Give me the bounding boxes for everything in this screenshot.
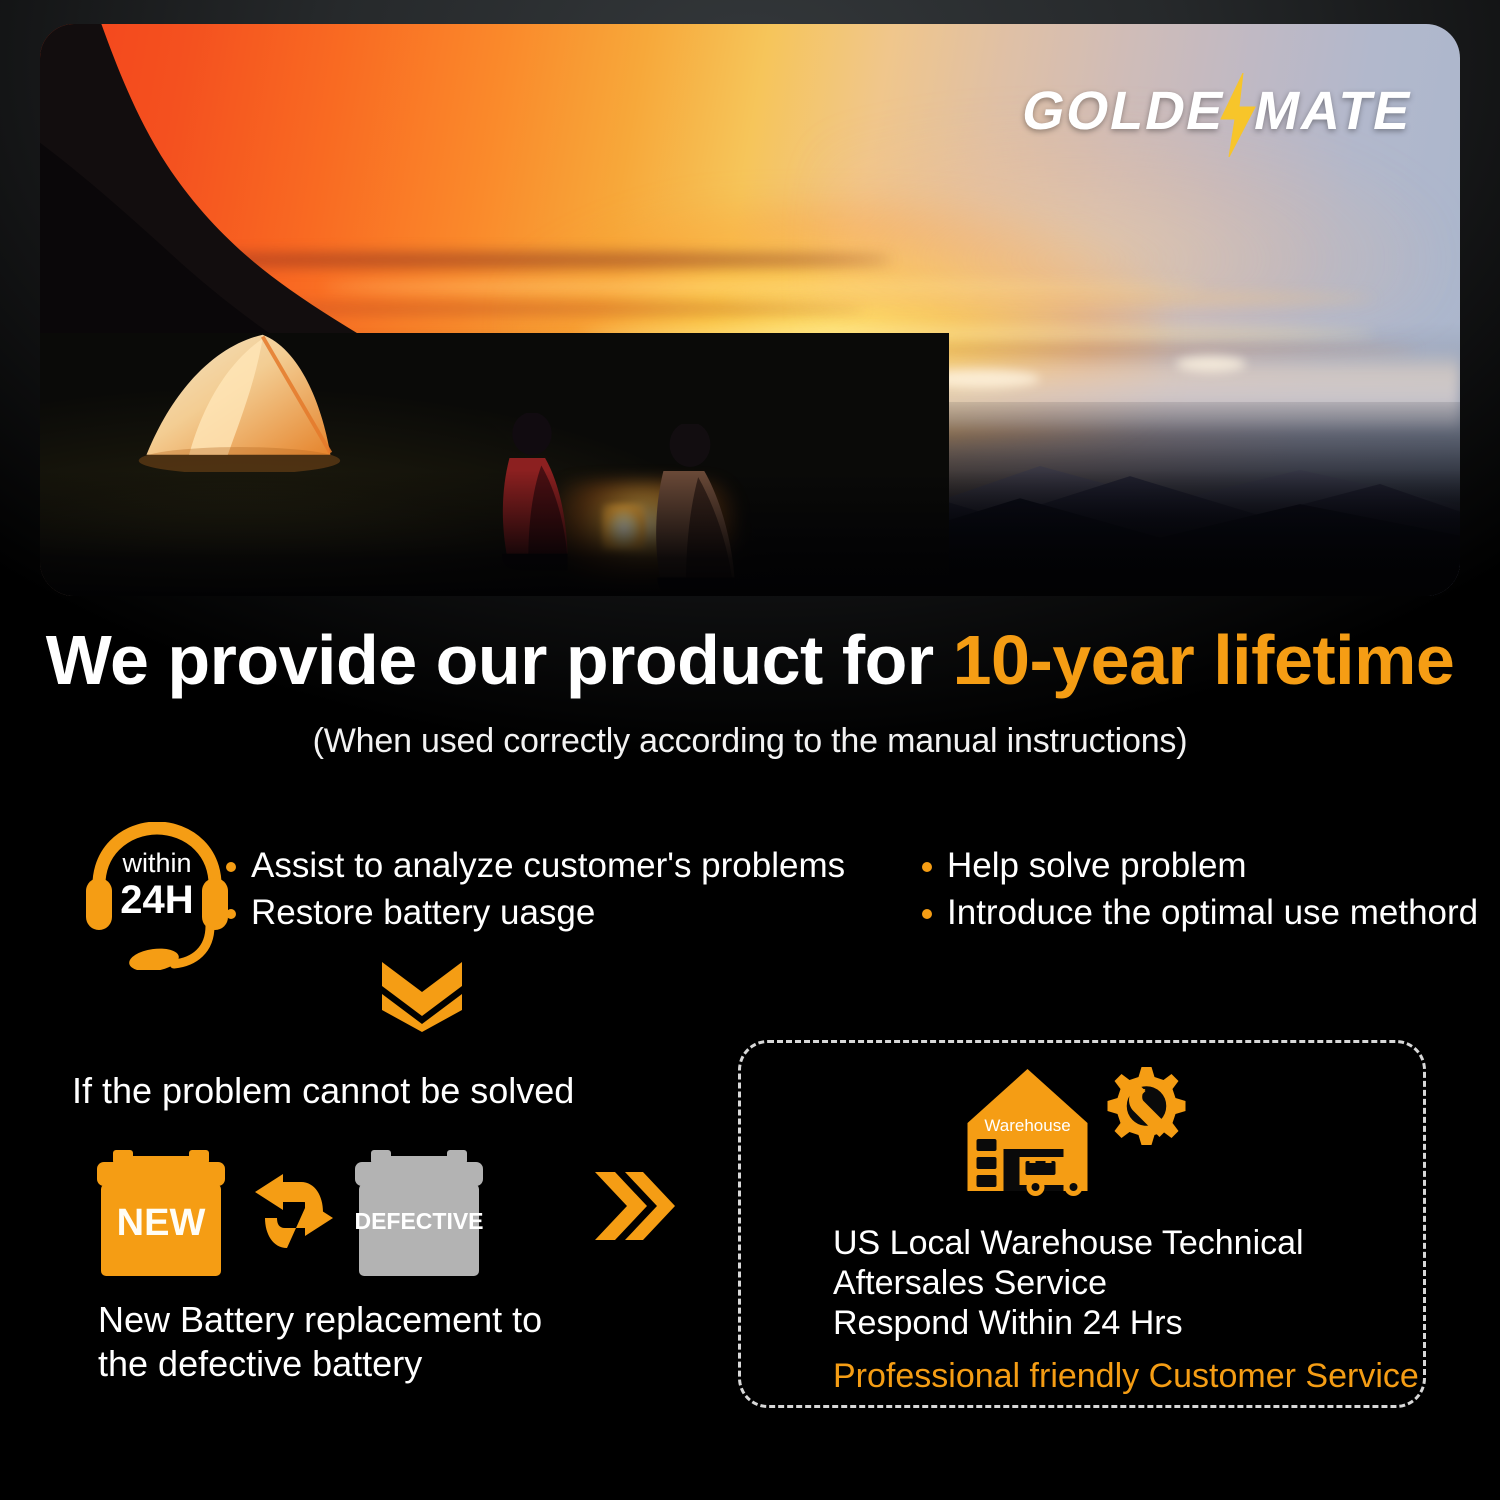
defective-battery-icon: DEFECTIVE: [353, 1148, 485, 1283]
secondary-sky-glow: [821, 116, 1446, 322]
support-bullets-left: Assist to analyze customer's problems Re…: [224, 845, 845, 940]
support-bullets-right: Help solve problem Introduce the optimal…: [920, 845, 1478, 940]
condition-text: If the problem cannot be solved: [72, 1070, 574, 1112]
warehouse-icon-group: Warehouse: [960, 1065, 1205, 1205]
service-highlight: Professional friendly Customer Service: [833, 1356, 1419, 1396]
headline-accent: 10-year lifetime: [953, 621, 1455, 699]
foreground-vignette: [40, 470, 1460, 596]
glowing-tent-icon: [131, 327, 344, 476]
logo-text-left: GOLDE: [1018, 84, 1231, 138]
list-item: Help solve problem: [920, 845, 1478, 886]
page-subtitle: (When used correctly according to the ma…: [0, 722, 1500, 761]
new-battery-icon: NEW: [95, 1148, 227, 1283]
page-title: We provide our product for 10-year lifet…: [0, 625, 1500, 695]
lightning-bolt-icon: [1215, 73, 1261, 157]
warehouse-building-label: Warehouse: [974, 1117, 1082, 1134]
swap-arrows-icon: [253, 1170, 335, 1252]
replacement-caption: New Battery replacement to the defective…: [98, 1298, 542, 1386]
warehouse-service-card: Warehouse US Local Warehouse Technical A…: [738, 1040, 1426, 1408]
badge-hours-label: 24H: [96, 880, 218, 920]
double-chevron-right-icon: [593, 1168, 675, 1244]
promo-page: GOLDE MATE We provide our product for 10…: [0, 0, 1500, 1500]
list-item: Assist to analyze customer's problems: [224, 845, 845, 886]
service-line-2: Aftersales Service: [833, 1263, 1419, 1303]
hero-photo: GOLDE MATE: [40, 24, 1460, 596]
list-item: Restore battery uasge: [224, 892, 845, 933]
brand-logo: GOLDE MATE: [1023, 80, 1412, 142]
service-line-3: Respond Within 24 Hrs: [833, 1303, 1419, 1343]
headline-plain: We provide our product for: [46, 621, 953, 699]
new-battery-label: NEW: [95, 1204, 227, 1242]
defective-battery-label: DEFECTIVE: [353, 1210, 485, 1233]
battery-swap-row: NEW DEFECTIVE: [95, 1148, 695, 1278]
cloud-puff: [1176, 356, 1246, 372]
logo-text-right: MATE: [1250, 84, 1417, 138]
double-chevron-down-icon: [376, 960, 468, 1032]
list-item: Introduce the optimal use methord: [920, 892, 1478, 933]
warehouse-service-text: US Local Warehouse Technical Aftersales …: [833, 1223, 1419, 1396]
badge-within-label: within: [96, 850, 218, 877]
headset-icon: within 24H: [82, 822, 232, 970]
service-line-1: US Local Warehouse Technical: [833, 1223, 1419, 1263]
